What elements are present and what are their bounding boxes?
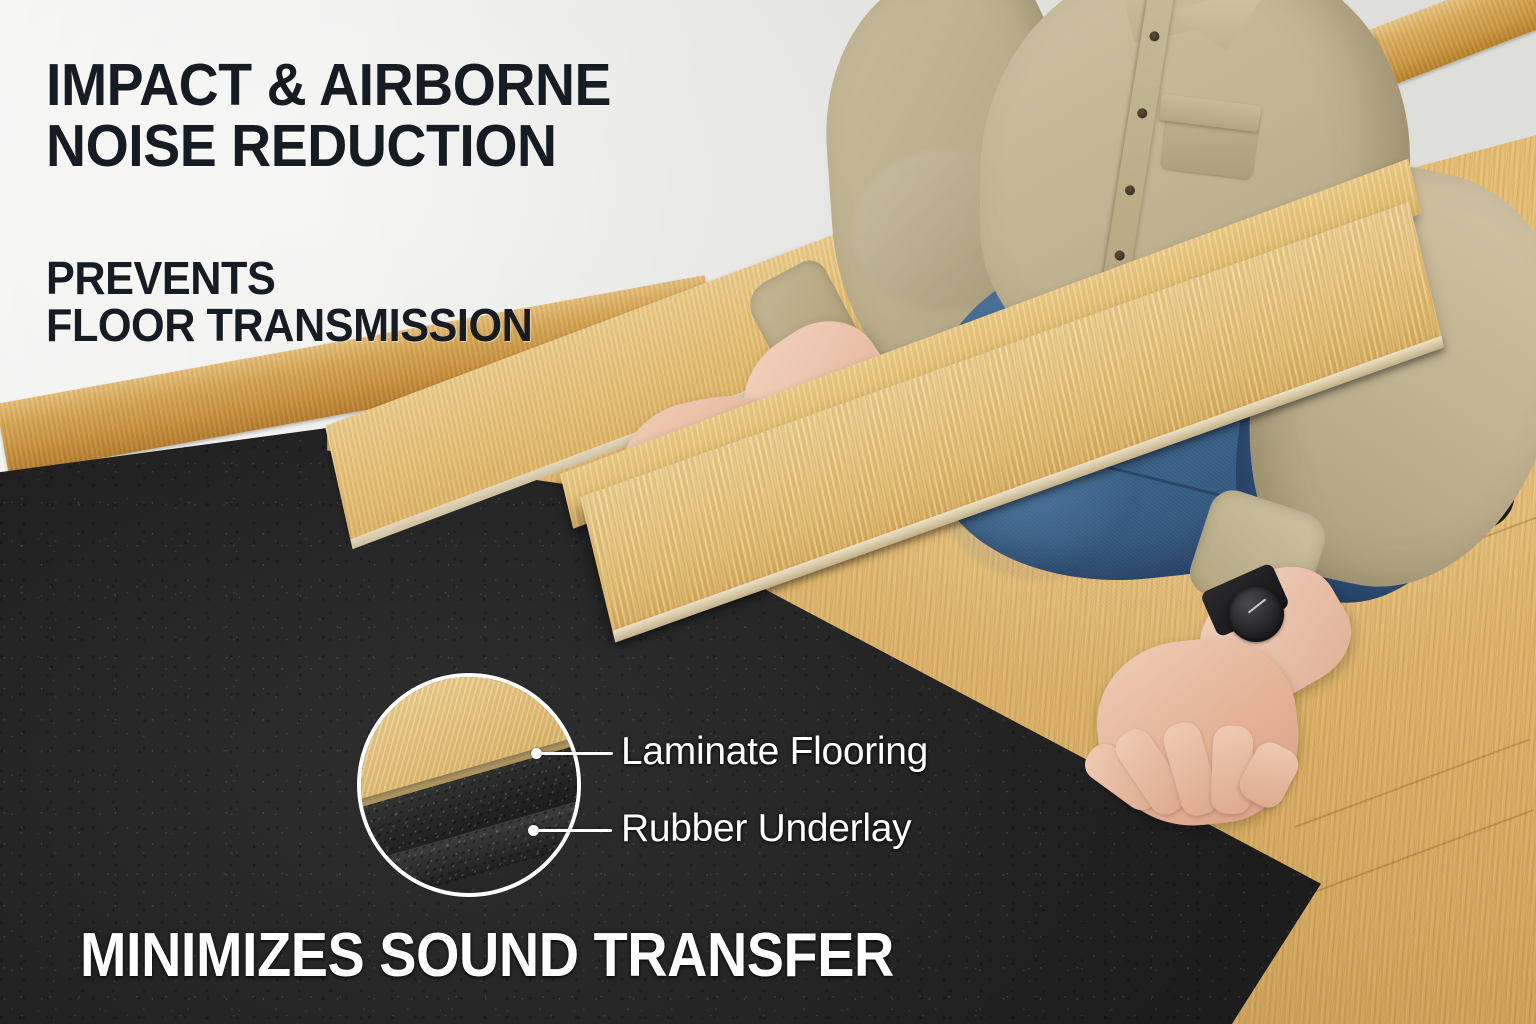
secondary-headline: PREVENTS FLOOR TRANSMISSION [46, 255, 532, 350]
shirt-button [1124, 185, 1135, 196]
shirt-button [1114, 250, 1125, 261]
secondary-headline-line-1: PREVENTS [46, 255, 532, 302]
secondary-headline-line-2: FLOOR TRANSMISSION [46, 302, 532, 349]
callout-label-laminate: Laminate Flooring [621, 730, 928, 774]
footer-headline: MINIMIZES SOUND TRANSFER [80, 920, 894, 991]
primary-headline-line-2: NOISE REDUCTION [46, 116, 611, 177]
leader-line [538, 829, 612, 832]
promo-graphic: Laminate Flooring Rubber Underlay IMPACT… [0, 0, 1536, 1024]
shirt-button [1137, 108, 1148, 119]
leader-line [541, 752, 613, 755]
primary-headline: IMPACT & AIRBORNE NOISE REDUCTION [46, 55, 611, 177]
shirt-button [1149, 31, 1160, 42]
callout-label-rubber: Rubber Underlay [621, 807, 911, 851]
wristwatch-face [1228, 586, 1284, 642]
primary-headline-line-1: IMPACT & AIRBORNE [46, 55, 611, 116]
layer-detail-callout [357, 673, 581, 897]
